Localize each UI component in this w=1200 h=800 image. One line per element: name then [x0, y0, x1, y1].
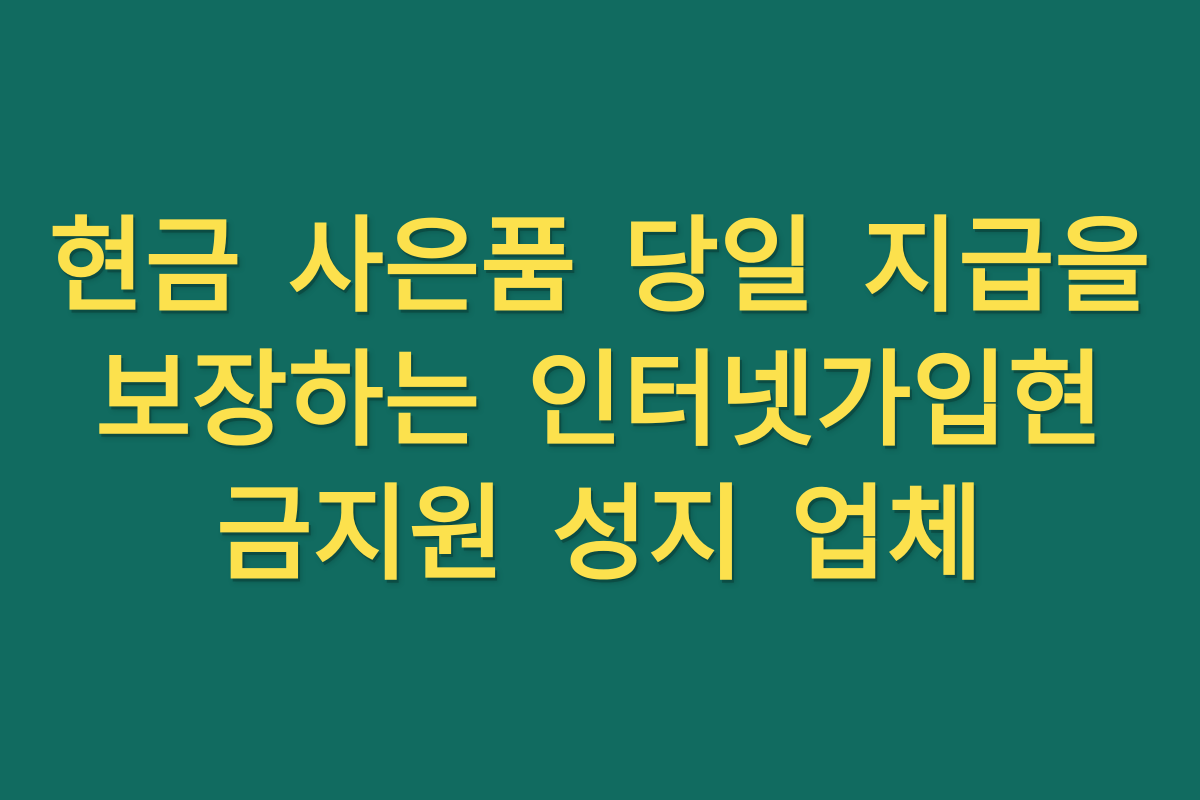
- promo-banner: 현금 사은품 당일 지급을 보장하는 인터넷가입현 금지원 성지 업체: [0, 0, 1200, 800]
- headline-line-3: 금지원 성지 업체: [40, 467, 1160, 601]
- page-title: 현금 사은품 당일 지급을 보장하는 인터넷가입현 금지원 성지 업체: [40, 199, 1160, 601]
- headline-line-2: 보장하는 인터넷가입현: [40, 333, 1160, 467]
- headline-line-1: 현금 사은품 당일 지급을: [40, 199, 1160, 333]
